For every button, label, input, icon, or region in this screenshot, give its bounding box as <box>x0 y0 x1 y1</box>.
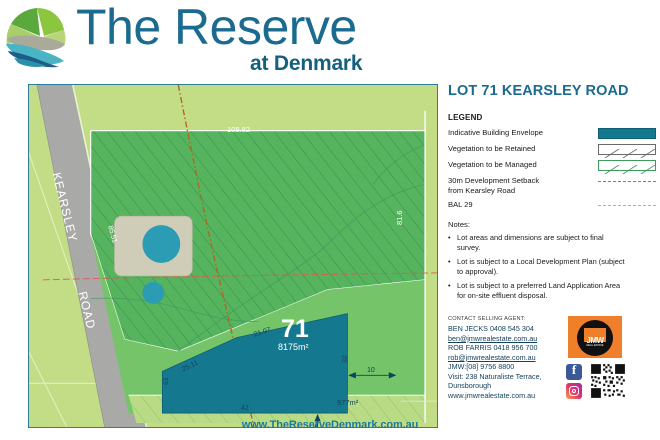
legend-label: Indicative Building Envelope <box>448 128 598 138</box>
contact-heading: CONTACT SELLING AGENT: <box>448 316 568 322</box>
legend-item-building-envelope: Indicative Building Envelope <box>448 128 656 139</box>
contact-address-line1: Visit: 238 Naturaliste Terrace, <box>448 372 568 382</box>
contact-address-line2: Dunsborough <box>448 381 568 391</box>
legend-swatch-dashed-red <box>598 176 656 187</box>
footer-website-url[interactable]: www.TheReserveDenmark.com.au <box>0 419 660 431</box>
bullet-icon: • <box>448 281 457 301</box>
jmw-tagline: REAL ESTATE <box>581 344 609 347</box>
note-item: • Lot is subject to a Local Development … <box>448 257 656 277</box>
brand-subtitle: at Denmark <box>250 53 362 74</box>
map-graphic <box>29 85 437 427</box>
legend-label: BAL 29 <box>448 200 598 210</box>
legend-item-development-setback: 30m Development Setback from Kearsley Ro… <box>448 176 656 195</box>
map-lot-area: 8175m² <box>278 343 309 352</box>
legend-swatch-hatch-green <box>598 160 656 171</box>
legend-item-bal-29: BAL 29 <box>448 200 656 211</box>
map-envelope-area: 977m² <box>337 398 358 407</box>
legend-swatch-solid-teal <box>598 128 656 139</box>
contact-email-ben[interactable]: ben@jmwrealestate.com.au <box>448 334 568 344</box>
contact-agent-rob: ROB FARRIS 0418 956 700 <box>448 343 568 353</box>
contact-office-phone: JMW:[08] 9756 8800 <box>448 362 568 372</box>
legend-item-vegetation-managed: Vegetation to be Managed <box>448 160 656 171</box>
note-item: • Lot areas and dimensions are subject t… <box>448 233 656 253</box>
qr-code[interactable] <box>590 363 626 399</box>
page-title: LOT 71 KEARSLEY ROAD <box>448 84 656 99</box>
facebook-icon[interactable] <box>566 364 582 380</box>
lot-plan-page: The Reserve at Denmark <box>0 0 660 440</box>
brand-wordmark: The Reserve <box>76 2 357 52</box>
bullet-icon: • <box>448 257 457 277</box>
contact-block: CONTACT SELLING AGENT: BEN JECKS 0408 54… <box>448 316 568 400</box>
notes-heading: Notes: <box>448 220 656 229</box>
brand-header: The Reserve at Denmark <box>0 0 440 82</box>
legend-label: Vegetation to be Managed <box>448 160 598 170</box>
site-plan-map[interactable]: KEARSLEY ROAD 108.82 81.6 85.51 71 8175m… <box>28 84 438 428</box>
instagram-icon[interactable] <box>566 383 582 399</box>
hatch-green-icon <box>599 165 655 174</box>
map-lot-number: 71 <box>281 317 309 342</box>
contact-agent-ben: BEN JECKS 0408 545 304 <box>448 324 568 334</box>
legend-heading: LEGEND <box>448 113 656 122</box>
note-text: Lot is subject to a preferred Land Appli… <box>457 281 656 301</box>
legend-label: 30m Development Setback from Kearsley Ro… <box>448 176 598 195</box>
jmw-badge-icon: JMW REAL ESTATE <box>577 320 613 356</box>
note-text: Lot is subject to a Local Development Pl… <box>457 257 656 277</box>
legend-label: Vegetation to be Retained <box>448 144 598 154</box>
hatch-grey-icon <box>599 149 655 158</box>
legend-swatch-dashed-orange <box>598 200 656 211</box>
leaf-wave-circle-logo <box>4 6 70 68</box>
social-links <box>566 364 582 402</box>
legend-swatch-hatch-grey <box>598 144 656 155</box>
note-text: Lot areas and dimensions are subject to … <box>457 233 656 253</box>
legend-item-vegetation-retained: Vegetation to be Retained <box>448 144 656 155</box>
agency-logo-block: JMW REAL ESTATE <box>568 316 622 358</box>
note-item: • Lot is subject to a preferred Land App… <box>448 281 656 301</box>
contact-email-rob[interactable]: rob@jmwrealestate.com.au <box>448 353 568 363</box>
contact-website[interactable]: www.jmwrealestate.com.au <box>448 391 568 401</box>
bullet-icon: • <box>448 233 457 253</box>
